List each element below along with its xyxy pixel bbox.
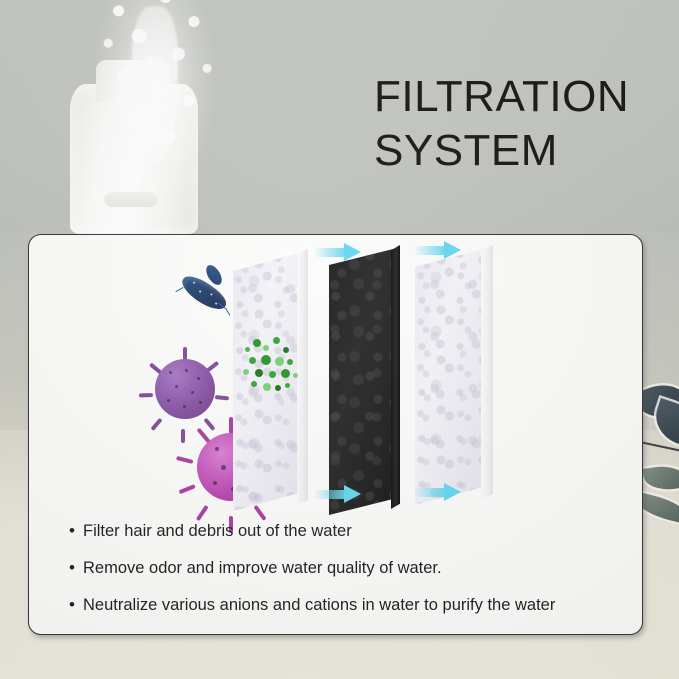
virus-spike [196, 505, 209, 521]
virus-pore [191, 391, 194, 394]
bacteria-speck [192, 281, 195, 284]
green-bacteria-dot [261, 355, 271, 365]
arrow-head [344, 485, 361, 503]
virus-pore [215, 447, 219, 451]
virus-pore [167, 399, 170, 402]
virus-pore [175, 385, 178, 388]
virus-pore [197, 377, 200, 380]
arrow-head [444, 483, 461, 501]
water-bottle-illustration [48, 0, 248, 236]
page-title: FILTRATION SYSTEM [374, 70, 664, 178]
virus-pore [213, 481, 217, 485]
flow-arrow-bottom-right [415, 483, 461, 502]
page-title-line2: SYSTEM [374, 124, 664, 178]
green-bacteria-dot [263, 345, 269, 351]
arrow-tail [415, 246, 447, 255]
water-splash-bubbles [90, 0, 220, 162]
filtration-system-infographic: FILTRATION SYSTEM [0, 0, 679, 679]
list-item: • Neutralize various anions and cations … [69, 595, 614, 615]
virus-spike [178, 484, 195, 494]
page-title-line1: FILTRATION [374, 70, 664, 124]
green-bacteria-dot [251, 381, 257, 387]
virus-spike [181, 429, 185, 443]
virus-pore [183, 405, 186, 408]
bacteria-speck [210, 293, 213, 296]
bacteria-flagellum [225, 307, 231, 315]
green-bacteria-dot [275, 385, 281, 391]
virus-spike [150, 418, 162, 431]
white-fiber-filter-layer-back [415, 249, 483, 505]
green-bacteria-dot [249, 357, 256, 364]
virus-spike [215, 395, 229, 400]
virus-spike [253, 505, 266, 521]
bacteria-flagellum [175, 287, 183, 293]
virus-spike [176, 456, 193, 464]
green-bacteria-dot [269, 371, 276, 378]
virus-capsid [155, 359, 215, 419]
bacteria-speck [199, 290, 202, 293]
feature-bullet-list: • Filter hair and debris out of the wate… [69, 521, 614, 632]
bullet-icon: • [69, 595, 83, 615]
list-item-label: Neutralize various anions and cations in… [83, 595, 614, 615]
arrow-tail [315, 490, 347, 499]
white-fiber-back-edge [481, 245, 493, 499]
green-bacteria-dot [293, 373, 298, 378]
list-item: • Remove odor and improve water quality … [69, 558, 614, 578]
virus-pore [185, 369, 188, 372]
list-item-label: Remove odor and improve water quality of… [83, 558, 614, 578]
green-bacteria-dot [287, 359, 293, 365]
bacteria-main-body [178, 271, 231, 316]
filter-layers-diagram [29, 235, 642, 513]
activated-carbon-filter-layer [329, 249, 393, 515]
virus-pore [169, 371, 172, 374]
bullet-icon: • [69, 558, 83, 578]
green-bacteria-dot [263, 383, 271, 391]
fiber-surface [415, 249, 483, 505]
flow-arrow-bottom-left [315, 485, 361, 504]
green-bacteria-dot [285, 383, 290, 388]
bacteria-green-cluster [241, 335, 303, 397]
green-bacteria-dot [245, 347, 250, 352]
list-item-label: Filter hair and debris out of the water [83, 521, 614, 541]
filtration-info-card: • Filter hair and debris out of the wate… [28, 234, 643, 635]
green-bacteria-dot [253, 339, 261, 347]
virus-pore [221, 465, 226, 470]
green-bacteria-dot [243, 369, 249, 375]
green-bacteria-dot [281, 369, 290, 378]
carbon-surface [329, 249, 393, 515]
bullet-icon: • [69, 521, 83, 541]
virus-pore [199, 401, 202, 404]
virus-spike [229, 417, 233, 434]
green-bacteria-dot [283, 347, 289, 353]
carbon-layer-edge [391, 245, 400, 509]
virus-spike [139, 393, 153, 397]
arrow-tail [415, 488, 447, 497]
arrow-tail [315, 248, 347, 257]
list-item: • Filter hair and debris out of the wate… [69, 521, 614, 541]
virus-purple-sphere [147, 351, 223, 427]
bacteria-navy-rod [171, 273, 241, 325]
bottle-label-patch [104, 191, 158, 207]
green-bacteria-dot [255, 369, 263, 377]
green-bacteria-dot [273, 337, 280, 344]
green-bacteria-dot [275, 357, 284, 366]
